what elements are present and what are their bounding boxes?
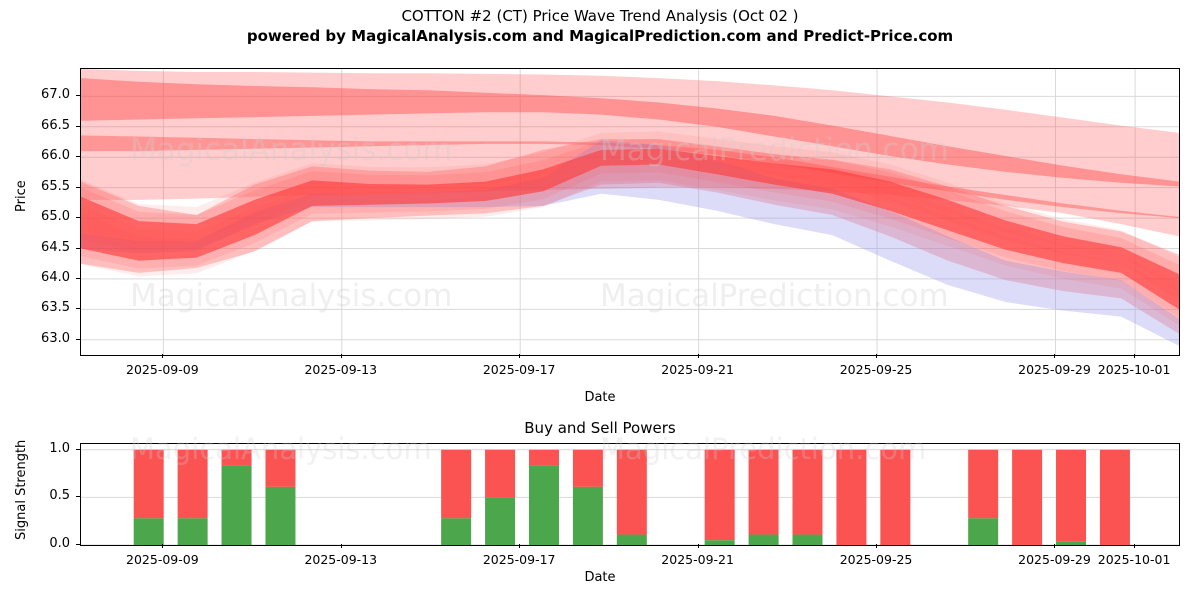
power-x-tick-label: 2025-09-09	[126, 552, 199, 567]
sell-power-bar	[222, 450, 252, 466]
buy-power-bar	[793, 535, 823, 545]
sell-power-bar	[880, 450, 910, 545]
buy-power-bar	[705, 540, 735, 545]
power-x-axis-label: Date	[0, 570, 1200, 585]
power-chart-plot-area	[80, 443, 1180, 546]
title-block: COTTON #2 (CT) Price Wave Trend Analysis…	[0, 6, 1200, 46]
price-y-tick-mark	[76, 217, 80, 218]
power-y-axis-label: Signal Strength	[14, 440, 29, 540]
price-x-tick-mark	[876, 354, 877, 358]
price-x-tick-label: 2025-09-25	[840, 362, 913, 377]
price-y-tick-mark	[76, 339, 80, 340]
price-x-tick-mark	[162, 354, 163, 358]
buy-power-bar	[485, 497, 515, 545]
buy-power-bar	[529, 466, 559, 545]
power-x-tick-label: 2025-09-17	[483, 552, 556, 567]
price-y-tick-label: 64.5	[8, 240, 70, 255]
page-title: COTTON #2 (CT) Price Wave Trend Analysis…	[0, 6, 1200, 26]
power-x-tick-label: 2025-09-13	[304, 552, 377, 567]
power-x-tick-label: 2025-09-25	[840, 552, 913, 567]
price-y-tick-mark	[76, 126, 80, 127]
power-chart-title: Buy and Sell Powers	[0, 419, 1200, 437]
sell-power-bar	[836, 450, 866, 545]
price-x-tick-mark	[1134, 354, 1135, 358]
buy-power-bar	[1056, 541, 1086, 545]
power-x-tick-mark	[1134, 544, 1135, 548]
price-x-tick-mark	[698, 354, 699, 358]
sell-power-bar	[529, 450, 559, 466]
power-x-tick-label: 2025-09-29	[1018, 552, 1091, 567]
price-y-tick-mark	[76, 308, 80, 309]
page-subtitle: powered by MagicalAnalysis.com and Magic…	[0, 26, 1200, 46]
sell-power-bar	[441, 450, 471, 519]
price-x-tick-label: 2025-09-13	[304, 362, 377, 377]
price-chart-svg	[81, 69, 1179, 355]
power-bar-group	[134, 450, 1130, 545]
sell-power-bar	[265, 450, 295, 487]
sell-power-bar	[617, 450, 647, 535]
power-x-tick-mark	[1054, 544, 1055, 548]
buy-power-bar	[265, 487, 295, 545]
power-x-tick-mark	[341, 544, 342, 548]
buy-power-bar	[178, 518, 208, 545]
buy-power-bar	[134, 518, 164, 545]
price-x-tick-label: 2025-09-21	[661, 362, 734, 377]
power-x-tick-mark	[876, 544, 877, 548]
price-y-tick-label: 66.0	[8, 148, 70, 163]
power-x-tick-label: 2025-10-01	[1098, 552, 1171, 567]
sell-power-bar	[749, 450, 779, 535]
price-x-tick-mark	[519, 354, 520, 358]
power-x-tick-mark	[162, 544, 163, 548]
price-x-tick-label: 2025-10-01	[1098, 362, 1171, 377]
buy-power-bar	[441, 518, 471, 545]
price-y-tick-label: 67.0	[8, 87, 70, 102]
buy-power-bar	[749, 535, 779, 545]
sell-power-bar	[1012, 450, 1042, 545]
price-x-tick-mark	[1054, 354, 1055, 358]
sell-power-bar	[1056, 450, 1086, 541]
price-y-tick-label: 66.5	[8, 118, 70, 133]
power-y-tick-mark	[76, 449, 80, 450]
sell-power-bar	[485, 450, 515, 498]
power-y-tick-mark	[76, 496, 80, 497]
power-y-tick-mark	[76, 544, 80, 545]
price-x-tick-label: 2025-09-17	[483, 362, 556, 377]
power-chart-svg	[81, 444, 1179, 545]
power-x-tick-label: 2025-09-21	[661, 552, 734, 567]
price-y-tick-mark	[76, 156, 80, 157]
price-x-tick-label: 2025-09-09	[126, 362, 199, 377]
sell-power-bar	[573, 450, 603, 487]
price-y-tick-mark	[76, 95, 80, 96]
power-x-tick-mark	[698, 544, 699, 548]
price-y-tick-label: 64.0	[8, 270, 70, 285]
sell-power-bar	[134, 450, 164, 519]
price-x-axis-label: Date	[0, 390, 1200, 405]
price-y-tick-mark	[76, 278, 80, 279]
chart-page: COTTON #2 (CT) Price Wave Trend Analysis…	[0, 0, 1200, 600]
price-chart-plot-area	[80, 68, 1180, 356]
price-y-tick-label: 63.5	[8, 300, 70, 315]
price-y-tick-mark	[76, 248, 80, 249]
sell-power-bar	[793, 450, 823, 535]
buy-power-bar	[573, 487, 603, 545]
buy-power-bar	[222, 466, 252, 545]
price-wave-bands	[81, 69, 1179, 346]
sell-power-bar	[968, 450, 998, 519]
price-y-axis-label: Price	[14, 180, 29, 212]
buy-power-bar	[968, 518, 998, 545]
sell-power-bar	[178, 450, 208, 519]
sell-power-bar	[705, 450, 735, 541]
sell-power-bar	[1100, 450, 1130, 545]
price-y-tick-mark	[76, 187, 80, 188]
buy-power-bar	[617, 535, 647, 545]
power-x-tick-mark	[519, 544, 520, 548]
price-y-tick-label: 63.0	[8, 331, 70, 346]
price-x-tick-mark	[341, 354, 342, 358]
price-x-tick-label: 2025-09-29	[1018, 362, 1091, 377]
